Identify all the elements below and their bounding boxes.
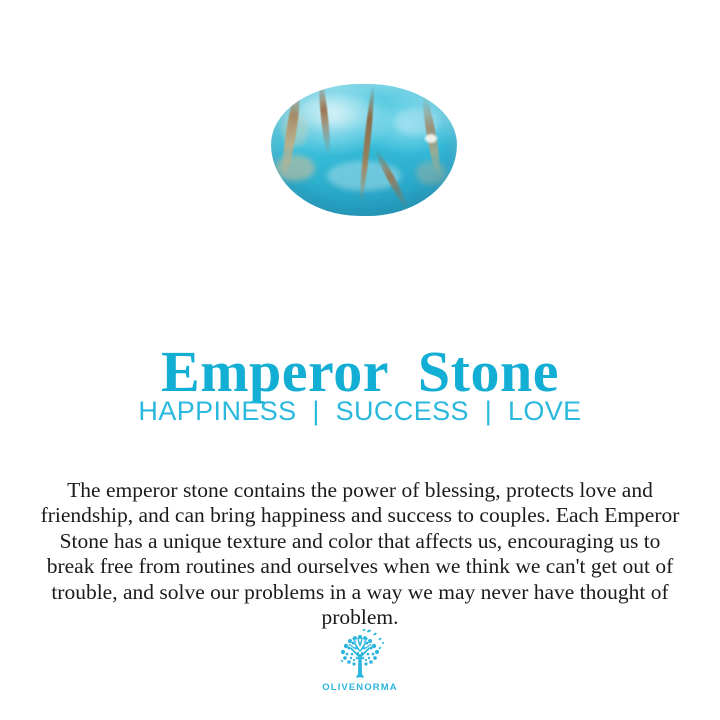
keyword-subtitle: HAPPINESS | SUCCESS | LOVE bbox=[0, 396, 720, 427]
tree-of-life-icon bbox=[328, 628, 392, 680]
product-info-card: Emperor Stone HAPPINESS | SUCCESS | LOVE… bbox=[0, 0, 720, 720]
gemstone-graphic bbox=[271, 84, 457, 216]
brand-logo: OLIVENORMA bbox=[0, 628, 720, 693]
stone-mineral-patch bbox=[275, 155, 315, 181]
page-title: Emperor Stone bbox=[0, 342, 720, 403]
product-description: The emperor stone contains the power of … bbox=[38, 478, 682, 632]
brand-name: OLIVENORMA bbox=[322, 682, 397, 693]
stone-mineral-patch bbox=[416, 161, 446, 185]
product-image-stone bbox=[271, 84, 457, 216]
